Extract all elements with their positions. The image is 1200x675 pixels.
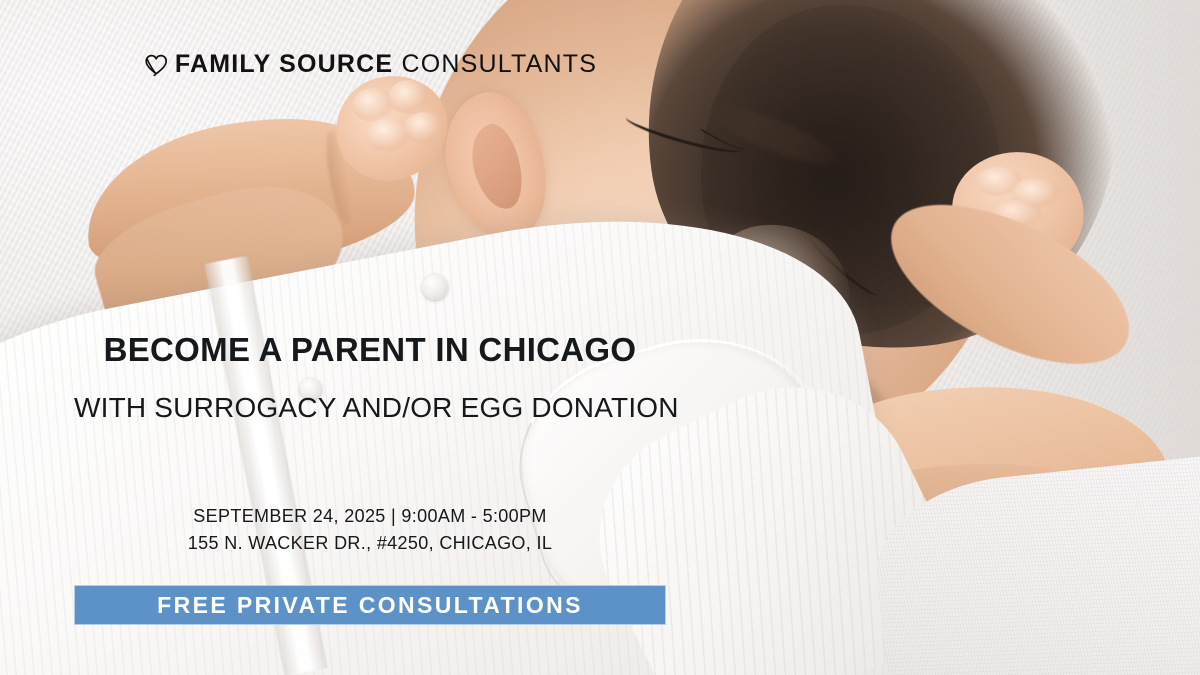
brand-name-light: CONSULTANTS — [393, 50, 597, 78]
event-address: 155 N. WACKER DR., #4250, CHICAGO, IL — [74, 530, 666, 557]
brand-logo-text: FAMILY SOURCE CONSULTANTS — [175, 52, 597, 77]
brand-logo-inner: FAMILY SOURCE CONSULTANTS — [143, 51, 597, 77]
brand-logo: FAMILY SOURCE CONSULTANTS — [0, 51, 740, 77]
free-consultations-label: FREE PRIVATE CONSULTATIONS — [157, 594, 583, 617]
event-details: SEPTEMBER 24, 2025 | 9:00AM - 5:00PM 155… — [74, 503, 666, 558]
subheadline: WITH SURROGACY AND/OR EGG DONATION — [74, 392, 666, 424]
free-consultations-banner[interactable]: FREE PRIVATE CONSULTATIONS — [74, 585, 666, 625]
headline: BECOME A PARENT IN CHICAGO — [74, 332, 666, 368]
event-datetime: SEPTEMBER 24, 2025 | 9:00AM - 5:00PM — [74, 503, 666, 530]
text-overlay: FAMILY SOURCE CONSULTANTS BECOME A PAREN… — [0, 0, 1200, 675]
heart-icon — [143, 52, 169, 78]
event-flyer: FAMILY SOURCE CONSULTANTS BECOME A PAREN… — [0, 0, 1200, 675]
brand-name-bold: FAMILY SOURCE — [175, 50, 393, 78]
